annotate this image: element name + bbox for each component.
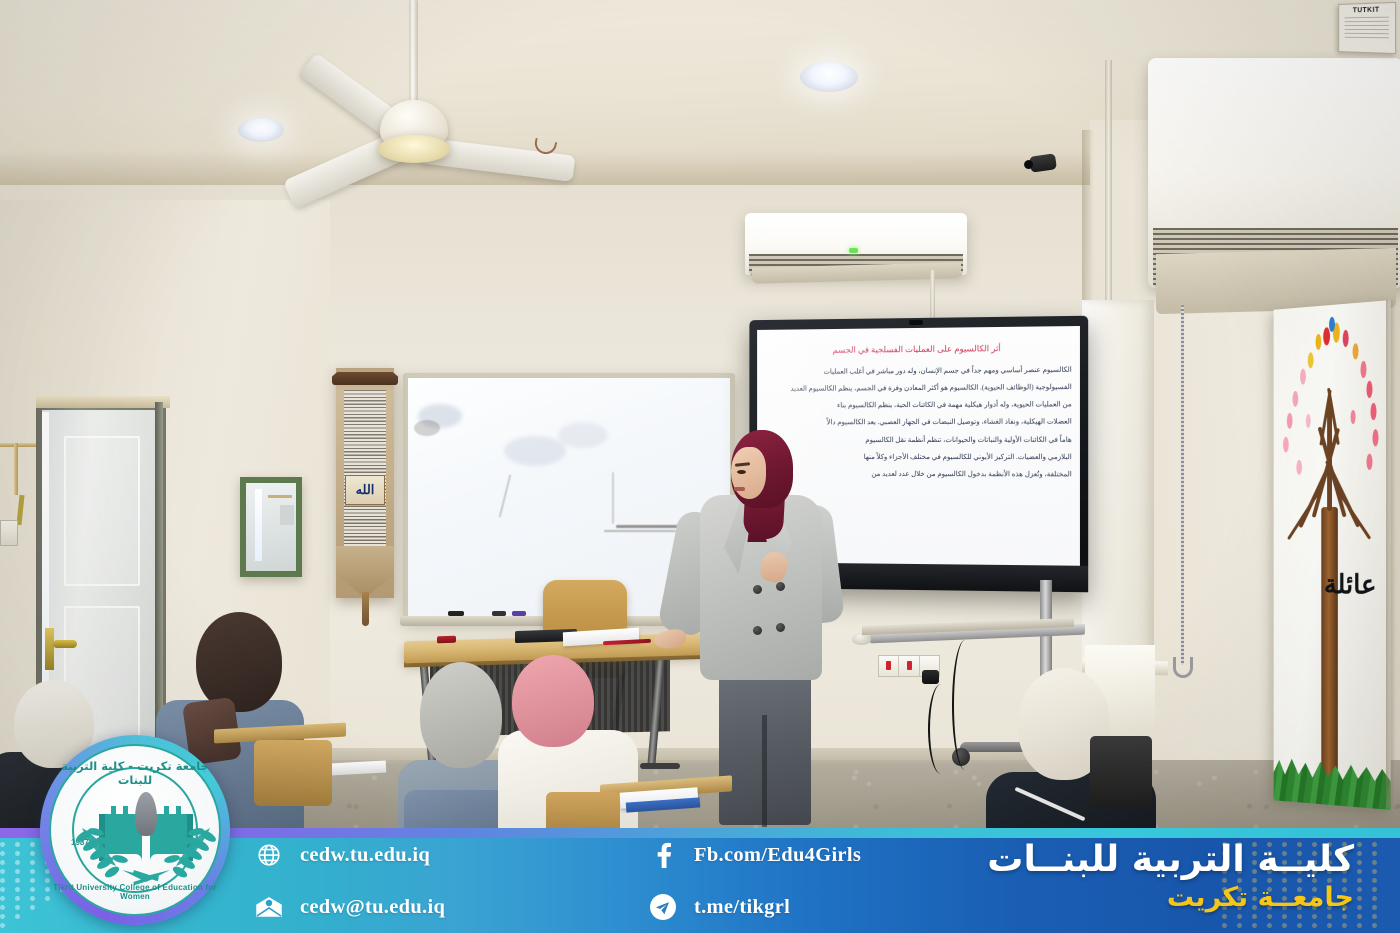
decorative-dot xyxy=(1357,923,1362,928)
power-plug xyxy=(922,670,939,684)
decorative-dot xyxy=(1372,878,1377,883)
decorative-dot xyxy=(0,923,5,928)
light-switch-plate[interactable] xyxy=(0,520,18,546)
decorative-dot xyxy=(1222,923,1227,928)
decorative-dot xyxy=(0,851,5,856)
student-hijab xyxy=(420,662,502,768)
wall-mirror xyxy=(240,477,302,577)
decorative-dot xyxy=(15,842,20,847)
mural-tree-trunk xyxy=(1321,507,1338,798)
slide-paragraph: المختلفة، وتُعزل هذه الأنظمة بدخول الكال… xyxy=(765,466,1072,484)
decorative-dot xyxy=(1312,914,1317,919)
decorative-dot xyxy=(1282,923,1287,928)
board-camera-icon xyxy=(909,320,923,325)
socket-switch[interactable] xyxy=(879,656,899,676)
slide-body: الكالسيوم عنصر أساسي ومهم جداً في جسم ال… xyxy=(765,362,1072,484)
islamic-wall-tapestry: الله xyxy=(336,368,394,598)
decorative-dot xyxy=(30,842,35,847)
wall-rack xyxy=(0,443,36,447)
door-lintel xyxy=(36,396,170,408)
seal-english-text: Tikrit University College of Education f… xyxy=(51,883,219,901)
decorative-dot xyxy=(1357,878,1362,883)
decorative-dot xyxy=(30,860,35,865)
facebook-icon xyxy=(648,840,678,870)
decorative-dot xyxy=(1252,923,1257,928)
decorative-dot xyxy=(15,860,20,865)
decorative-dot xyxy=(0,869,5,874)
air-conditioner-unit xyxy=(1148,58,1400,288)
socket-switch[interactable] xyxy=(899,656,919,676)
slide-paragraph: من العمليات الحيوية، وله أدوار هيكلية مه… xyxy=(765,396,1072,415)
power-cable xyxy=(928,684,954,774)
slide-paragraph: الفسيولوجية (الوظائف الحيوية). الكالسيوم… xyxy=(765,379,1072,398)
facebook-row[interactable]: Fb.com/Edu4Girls xyxy=(648,840,861,870)
chair-frame xyxy=(254,740,332,806)
decorative-dot xyxy=(1357,905,1362,910)
decorative-dot xyxy=(1372,869,1377,874)
ac-status-led xyxy=(849,248,858,253)
facebook-text: Fb.com/Edu4Girls xyxy=(694,844,861,867)
coat-button xyxy=(776,623,785,632)
decorative-dot xyxy=(1372,923,1377,928)
decorative-dot xyxy=(1297,914,1302,919)
tapestry-allah-panel: الله xyxy=(345,475,385,505)
marker xyxy=(448,611,464,616)
lecturer-lips xyxy=(734,487,745,491)
slide-paragraph: العضلات الهيكلية، ونفاذ الغشاء، وتوصيل ا… xyxy=(765,414,1072,432)
trouser-seam xyxy=(762,715,767,827)
decorative-dot xyxy=(1282,914,1287,919)
seal-arabic-text: جامعة تكريت - كلية التربية للبنات xyxy=(51,759,219,787)
decorative-dot xyxy=(15,869,20,874)
ceiling-downlight xyxy=(238,118,284,142)
decorative-dot xyxy=(1267,914,1272,919)
seal-face: جامعة تكريت - كلية التربية للبنات 1987 ١… xyxy=(49,744,221,916)
decorative-dot xyxy=(1342,923,1347,928)
decorative-dot xyxy=(1237,914,1242,919)
wall-rack-post xyxy=(14,443,18,495)
desk-foot xyxy=(640,763,680,769)
telegram-icon xyxy=(648,892,678,922)
ceiling-fan-rod xyxy=(409,0,418,105)
blind-pull-chain[interactable] xyxy=(1181,305,1184,665)
coat-button xyxy=(753,585,762,594)
email-row[interactable]: cedw@tu.edu.iq xyxy=(254,892,445,922)
marker xyxy=(492,611,506,616)
college-name-arabic: كليــة التربية للبنــات xyxy=(987,840,1354,880)
tapestry-border xyxy=(336,546,394,598)
decorative-dot xyxy=(30,896,35,901)
decorative-dot xyxy=(1372,896,1377,901)
website-text: cedw.tu.edu.iq xyxy=(300,844,430,867)
decorative-dot xyxy=(1372,860,1377,865)
envelope-icon xyxy=(254,892,284,922)
slide-paragraph: البلازمي والعضيات. التركيز الأيوني للكال… xyxy=(765,449,1072,466)
chair-frame xyxy=(1090,736,1152,808)
decorative-dot xyxy=(15,914,20,919)
decorative-dot xyxy=(0,842,5,847)
university-name-arabic: جامعــة تكريت xyxy=(987,882,1354,914)
decorative-dot xyxy=(1327,923,1332,928)
window-recess xyxy=(1082,300,1154,680)
ceiling-downlight xyxy=(800,62,858,92)
decorative-dot xyxy=(1357,860,1362,865)
decorative-dot xyxy=(1372,842,1377,847)
mural-arabic-word: عائلة xyxy=(1287,570,1377,613)
notice-heading: TUTKIT xyxy=(1339,6,1395,14)
tapestry-allah-text: الله xyxy=(356,482,375,498)
institution-name-block: كليــة التربية للبنــات جامعــة تكريت xyxy=(987,840,1354,915)
decorative-dot xyxy=(15,878,20,883)
decorative-dot xyxy=(1357,914,1362,919)
decorative-dot xyxy=(1222,914,1227,919)
decorative-dot xyxy=(1372,914,1377,919)
classroom-photo: TUTKIT الله xyxy=(0,0,1400,933)
decorative-dot xyxy=(1357,869,1362,874)
decorative-dot xyxy=(1357,842,1362,847)
decorative-dot xyxy=(0,905,5,910)
decorative-dot xyxy=(1357,887,1362,892)
air-conditioner-unit xyxy=(745,213,967,275)
marker xyxy=(512,611,526,616)
telegram-text: t.me/tikgrl xyxy=(694,896,790,919)
decorative-dot xyxy=(1342,914,1347,919)
tapestry-calligraphy-field xyxy=(344,390,386,546)
ceiling-fan-light xyxy=(378,135,450,163)
telegram-row[interactable]: t.me/tikgrl xyxy=(648,892,861,922)
door-lock-plate xyxy=(45,628,54,670)
decorative-dot xyxy=(30,878,35,883)
mirror-reflection xyxy=(255,489,262,561)
decorative-dot xyxy=(1312,923,1317,928)
college-logo-seal: جامعة تكريت - كلية التربية للبنات 1987 ١… xyxy=(40,735,230,925)
decorative-dot xyxy=(1237,923,1242,928)
social-column: Fb.com/Edu4Girls t.me/tikgrl xyxy=(648,846,861,916)
power-cable xyxy=(952,640,978,770)
email-text: cedw@tu.edu.iq xyxy=(300,896,445,919)
decorative-dot xyxy=(1372,851,1377,856)
decorative-dot xyxy=(0,887,5,892)
contact-column: cedw.tu.edu.iq cedw@tu.edu.iq xyxy=(254,846,445,916)
student-hijab xyxy=(512,655,594,747)
decorative-dot xyxy=(15,896,20,901)
slide-title: أثر الكالسيوم على العمليات الفسلجية في ا… xyxy=(767,342,1070,356)
decorative-dot xyxy=(0,860,5,865)
decorative-dot xyxy=(30,851,35,856)
decorative-dot xyxy=(1372,887,1377,892)
mural-frame-edge xyxy=(1386,300,1396,808)
wall-notice-poster: TUTKIT xyxy=(1338,2,1396,54)
decorative-dot xyxy=(15,851,20,856)
website-row[interactable]: cedw.tu.edu.iq xyxy=(254,840,445,870)
slide-paragraph: الكالسيوم عنصر أساسي ومهم جداً في جسم ال… xyxy=(765,362,1072,382)
coat-button xyxy=(776,582,785,591)
coat-button xyxy=(753,626,762,635)
decorative-dot xyxy=(30,887,35,892)
decorative-dot xyxy=(0,914,5,919)
decorative-dot xyxy=(15,887,20,892)
decorative-dot xyxy=(0,878,5,883)
decorative-dot xyxy=(1357,896,1362,901)
decorative-dot xyxy=(30,869,35,874)
lecturer-eye xyxy=(737,470,746,474)
lecturer-face xyxy=(731,447,766,499)
laurel-wreath-icon xyxy=(60,818,232,888)
decorative-dot xyxy=(0,896,5,901)
decorative-dot xyxy=(15,905,20,910)
decorative-dot xyxy=(30,905,35,910)
tapestry-header-bar xyxy=(332,372,398,385)
decorative-dot xyxy=(1327,914,1332,919)
tree-mural-painting: عائلة xyxy=(1274,300,1391,810)
decorative-dot xyxy=(1372,905,1377,910)
decorative-dot xyxy=(1267,923,1272,928)
decorative-dot xyxy=(1357,851,1362,856)
decorative-dot xyxy=(1297,923,1302,928)
student-hijab xyxy=(196,612,282,712)
globe-icon xyxy=(254,840,284,870)
door-handle[interactable] xyxy=(53,640,77,648)
ac-pipe xyxy=(1105,60,1112,310)
whiteboard-eraser[interactable] xyxy=(437,636,456,644)
slide-paragraph: هاماً في الكائنات الأولية والنباتات والح… xyxy=(765,431,1072,449)
decorative-dot xyxy=(1252,914,1257,919)
tapestry-tassel xyxy=(362,592,369,626)
